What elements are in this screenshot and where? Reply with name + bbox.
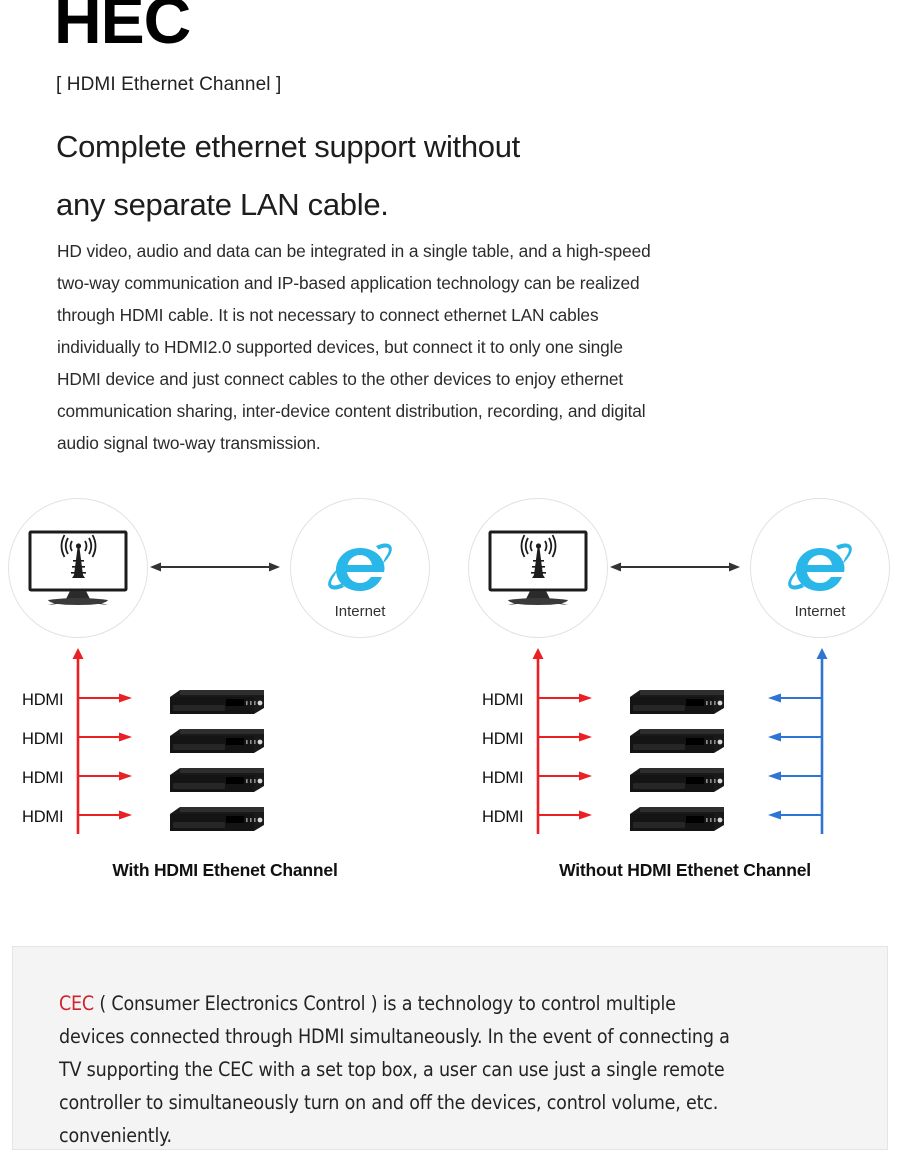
internet-explorer-icon — [787, 539, 853, 599]
tv-circle-left — [8, 498, 148, 638]
cec-line-2: devices connected through HDMI simultane… — [59, 1020, 849, 1053]
set-top-box-device — [168, 804, 268, 834]
internet-explorer-icon — [327, 539, 393, 599]
cec-acronym: CEC — [59, 992, 94, 1015]
body-line-1: HD video, audio and data can be integrat… — [57, 235, 825, 267]
cec-line-5: conveniently. — [59, 1119, 849, 1152]
panel-without-hec: Internet — [460, 488, 900, 908]
panel-with-hec: Internet — [0, 488, 450, 908]
body-line-2: two-way communication and IP-based appli… — [57, 267, 825, 299]
internet-circle-left: Internet — [290, 498, 430, 638]
set-top-box-device — [628, 765, 728, 795]
body-line-6: communication sharing, inter-device cont… — [57, 395, 825, 427]
cec-line-1-rest: ( Consumer Electronics Control ) is a te… — [94, 992, 676, 1015]
caption-with-hec: With HDMI Ethenet Channel — [0, 860, 450, 881]
set-top-box-device — [628, 726, 728, 756]
body-line-4: individually to HDMI2.0 supported device… — [57, 331, 825, 363]
set-top-box-device — [628, 804, 728, 834]
set-top-box-device — [168, 765, 268, 795]
tv-circle-right — [468, 498, 608, 638]
tv-icon — [26, 529, 130, 607]
body-line-3: through HDMI cable. It is not necessary … — [57, 299, 825, 331]
bidirectional-link-arrow-left — [150, 556, 280, 578]
set-top-box-device — [628, 687, 728, 717]
cec-paragraph: CEC ( Consumer Electronics Control ) is … — [59, 987, 849, 1152]
tv-icon — [486, 529, 590, 607]
cec-line-3: TV supporting the CEC with a set top box… — [59, 1053, 849, 1086]
set-top-box-device — [168, 726, 268, 756]
device-stack-right — [460, 648, 900, 848]
internet-label-left: Internet — [291, 603, 429, 620]
comparison-diagram: Internet — [0, 488, 900, 908]
page-subtitle: [ HDMI Ethernet Channel ] — [56, 74, 281, 96]
cec-line-1: CEC ( Consumer Electronics Control ) is … — [59, 987, 849, 1020]
headline-line-1: Complete ethernet support without — [56, 118, 756, 176]
page-title: HEC — [54, 0, 190, 55]
bidirectional-link-arrow-right — [610, 556, 740, 578]
internet-label-right: Internet — [751, 603, 889, 620]
body-paragraph: HD video, audio and data can be integrat… — [57, 235, 825, 459]
caption-without-hec: Without HDMI Ethenet Channel — [460, 860, 900, 881]
set-top-box-device — [168, 687, 268, 717]
headline: Complete ethernet support without any se… — [56, 118, 756, 234]
hec-infographic-page: HEC [ HDMI Ethernet Channel ] Complete e… — [0, 0, 900, 1150]
internet-circle-right: Internet — [750, 498, 890, 638]
headline-line-2: any separate LAN cable. — [56, 176, 756, 234]
body-line-5: HDMI device and just connect cables to t… — [57, 363, 825, 395]
device-stack-left — [0, 648, 450, 848]
cec-callout-box: CEC ( Consumer Electronics Control ) is … — [12, 946, 888, 1150]
cec-line-4: controller to simultaneously turn on and… — [59, 1086, 849, 1119]
body-line-7: audio signal two-way transmission. — [57, 427, 825, 459]
